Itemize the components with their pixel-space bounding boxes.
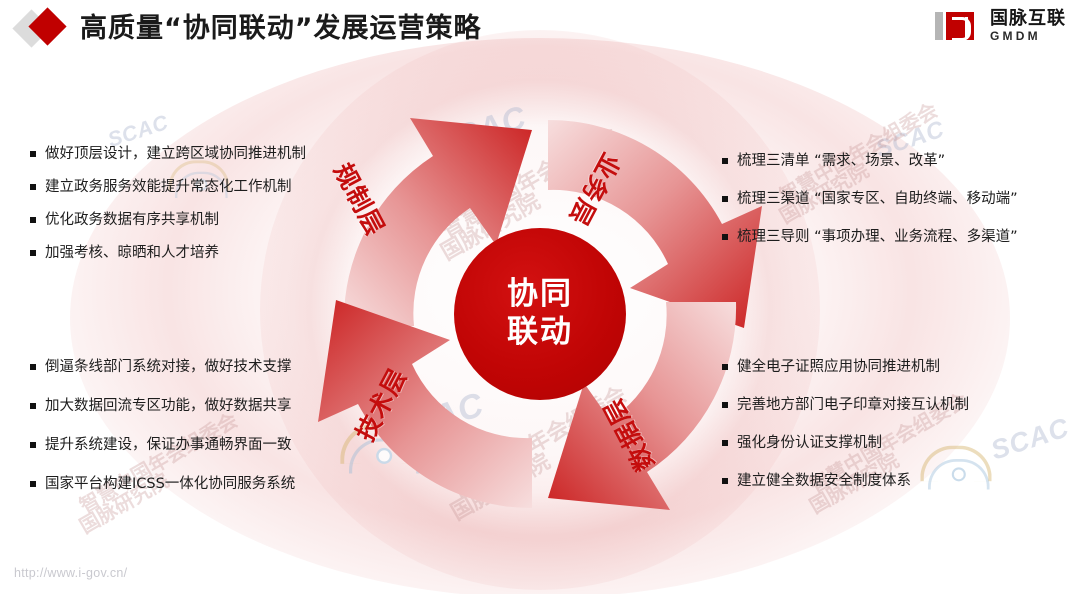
bullet-square-icon	[30, 481, 36, 487]
list-item: 优化政务数据有序共享机制	[30, 211, 306, 229]
diamond-bullet-icon	[18, 10, 76, 48]
list-item: 完善地方部门电子印章对接互认机制	[722, 396, 969, 414]
hub-line-2: 联动	[507, 314, 573, 352]
bullet-square-icon	[722, 196, 728, 202]
list-item: 健全电子证照应用协同推进机制	[722, 358, 969, 376]
bullet-square-icon	[722, 440, 728, 446]
list-item-text: 梳理三导则 “事项办理、业务流程、多渠道”	[737, 228, 1018, 246]
list-item: 国家平台构建ICSS一体化协同服务系统	[30, 475, 295, 493]
cycle-center-hub: 协同 联动	[454, 228, 626, 400]
list-item-text: 提升系统建设，保证办事通畅界面一致	[45, 436, 292, 454]
list-item: 强化身份认证支撑机制	[722, 434, 969, 452]
bullet-list-business: 梳理三清单 “需求、场景、改革” 梳理三渠道 “国家专区、自助终端、移动端” 梳…	[722, 152, 1018, 266]
list-item: 加强考核、晾晒和人才培养	[30, 244, 306, 262]
slide-header: 高质量“协同联动”发展运营策略 国脉互联 GMDM	[0, 0, 1080, 56]
list-item: 梳理三渠道 “国家专区、自助终端、移动端”	[722, 190, 1018, 208]
bullet-square-icon	[30, 403, 36, 409]
slide-root: SCAC SCAC SCAC SCAC SCAC 智慧中国年会组委会 国脉研究院…	[0, 0, 1080, 594]
list-item: 建立政务服务效能提升常态化工作机制	[30, 178, 306, 196]
bullet-square-icon	[30, 217, 36, 223]
bullet-square-icon	[30, 442, 36, 448]
list-item: 倒逼条线部门系统对接，做好技术支撑	[30, 358, 295, 376]
bullet-square-icon	[722, 402, 728, 408]
bullet-square-icon	[722, 158, 728, 164]
bullet-square-icon	[722, 364, 728, 370]
list-item: 梳理三清单 “需求、场景、改革”	[722, 152, 1018, 170]
page-title: 高质量“协同联动”发展运营策略	[80, 6, 482, 45]
list-item-text: 优化政务数据有序共享机制	[45, 211, 219, 229]
brand-logo: 国脉互联 GMDM	[935, 8, 1066, 44]
gmdm-logo-icon	[935, 10, 985, 42]
list-item-text: 梳理三清单 “需求、场景、改革”	[737, 152, 945, 170]
bullet-list-tech: 倒逼条线部门系统对接，做好技术支撑 加大数据回流专区功能，做好数据共享 提升系统…	[30, 358, 295, 515]
watermark-scac: SCAC	[987, 412, 1073, 466]
list-item-text: 建立政务服务效能提升常态化工作机制	[45, 178, 292, 196]
list-item-text: 国家平台构建ICSS一体化协同服务系统	[45, 475, 295, 493]
hub-line-1: 协同	[507, 276, 573, 314]
list-item-text: 加强考核、晾晒和人才培养	[45, 244, 219, 262]
list-item-text: 做好顶层设计，建立跨区域协同推进机制	[45, 145, 306, 163]
list-item: 建立健全数据安全制度体系	[722, 472, 969, 490]
brand-name-cn: 国脉互联	[990, 10, 1066, 28]
bullet-list-regulation: 做好顶层设计，建立跨区域协同推进机制 建立政务服务效能提升常态化工作机制 优化政…	[30, 145, 306, 278]
list-item-text: 建立健全数据安全制度体系	[737, 472, 911, 490]
list-item-text: 强化身份认证支撑机制	[737, 434, 882, 452]
cycle-diagram: 协同 联动 规制层 业务层 数据层 技术层	[300, 78, 780, 548]
bullet-square-icon	[30, 151, 36, 157]
brand-name-en: GMDM	[990, 30, 1066, 42]
bullet-list-data: 健全电子证照应用协同推进机制 完善地方部门电子印章对接互认机制 强化身份认证支撑…	[722, 358, 969, 511]
bullet-square-icon	[30, 184, 36, 190]
list-item-text: 倒逼条线部门系统对接，做好技术支撑	[45, 358, 292, 376]
list-item: 梳理三导则 “事项办理、业务流程、多渠道”	[722, 228, 1018, 246]
bullet-square-icon	[722, 234, 728, 240]
list-item-text: 梳理三渠道 “国家专区、自助终端、移动端”	[737, 190, 1018, 208]
list-item: 提升系统建设，保证办事通畅界面一致	[30, 436, 295, 454]
watermark-scac-text: SCAC	[987, 412, 1073, 466]
bullet-square-icon	[30, 364, 36, 370]
list-item-text: 加大数据回流专区功能，做好数据共享	[45, 397, 292, 415]
bullet-square-icon	[722, 478, 728, 484]
list-item: 加大数据回流专区功能，做好数据共享	[30, 397, 295, 415]
list-item-text: 完善地方部门电子印章对接互认机制	[737, 396, 969, 414]
list-item-text: 健全电子证照应用协同推进机制	[737, 358, 940, 376]
list-item: 做好顶层设计，建立跨区域协同推进机制	[30, 145, 306, 163]
footer-url[interactable]: http://www.i-gov.cn/	[14, 566, 127, 580]
bullet-square-icon	[30, 250, 36, 256]
